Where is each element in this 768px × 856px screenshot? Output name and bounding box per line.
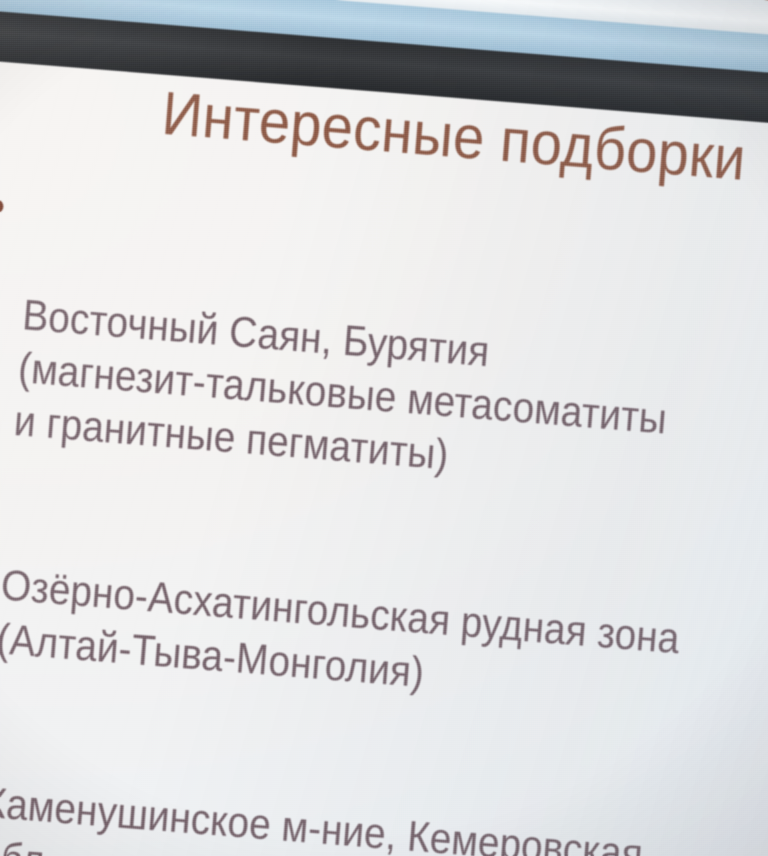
slide-canvas: Интересные подборки Восточный Саян, Буря… [0,50,768,856]
projection-screen: Интересные подборки Восточный Саян, Буря… [0,0,768,856]
list-item-label: Восточный Саян, Бурятия (магнезит-талько… [12,291,668,480]
photograph-of-projected-slide: Интересные подборки Восточный Саян, Буря… [0,0,768,856]
bullet-dot-icon [0,199,4,213]
slide-bullet-list: Восточный Саян, Бурятия (магнезит-талько… [0,179,768,856]
list-item: Восточный Саян, Бурятия (магнезит-талько… [0,179,722,503]
list-item-label: Озёрно-Асхатингольская рудная зона (Алта… [0,562,681,697]
list-item-label: Каменушинское м-ние, Кемеровская обл [0,779,645,856]
